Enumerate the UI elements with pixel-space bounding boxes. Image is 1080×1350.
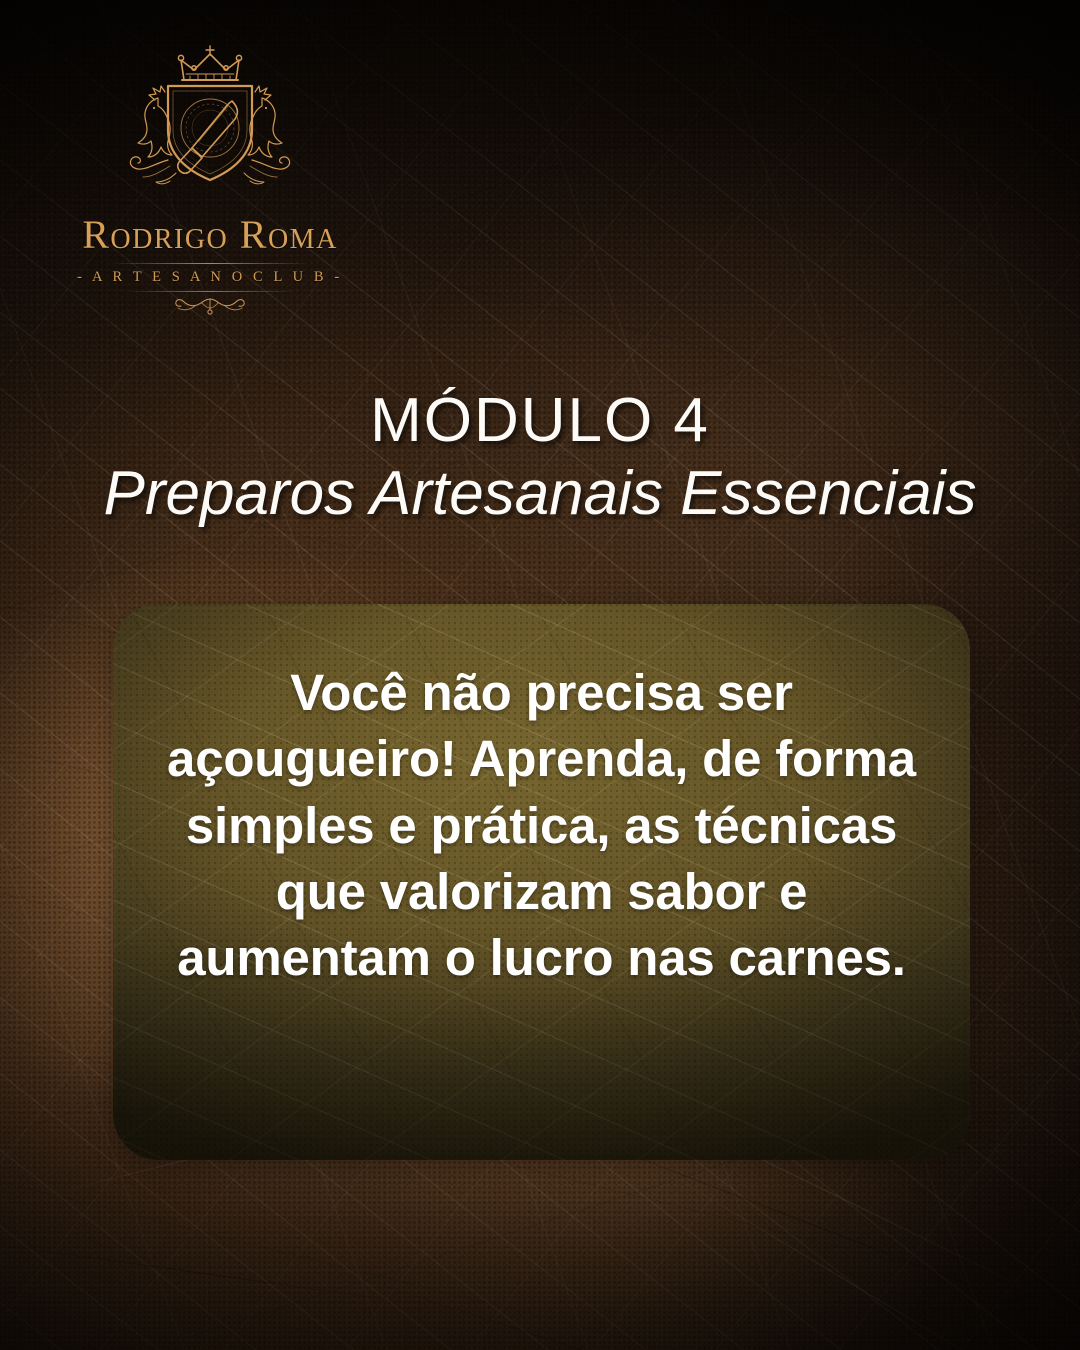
brand-logo: Rodrigo Roma - A R T E S A N O C L U B - [60,40,360,319]
social-post-canvas: Rodrigo Roma - A R T E S A N O C L U B -… [0,0,1080,1350]
brand-divider-bottom [125,291,295,292]
module-title: MÓDULO 4 [0,386,1080,455]
ornamental-flourish-icon [150,293,270,319]
panel-body-text: Você não precisa ser açougueiro! Aprenda… [153,660,930,991]
module-subtitle: Preparos Artesanais Essenciais [0,457,1080,530]
brand-wordmark: Rodrigo Roma [60,214,360,256]
content-panel: Você não precisa ser açougueiro! Aprenda… [113,604,970,1160]
headline-block: MÓDULO 4 Preparos Artesanais Essenciais [0,386,1080,531]
brand-divider-top [110,263,310,264]
brand-tagline: - A R T E S A N O C L U B - [60,269,360,286]
heraldic-shield-crest-icon [110,40,310,210]
